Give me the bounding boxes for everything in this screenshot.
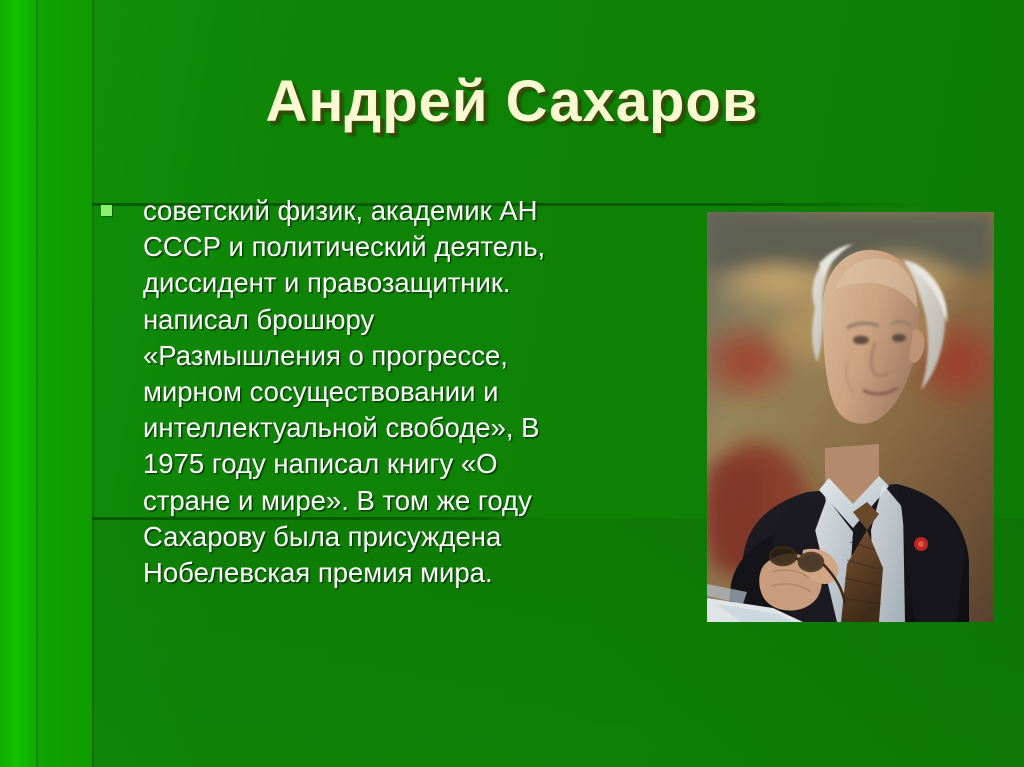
bullet-item-text: советский физик, академик АН СССР и поли…	[143, 193, 571, 591]
bullet-list: советский физик, академик АН СССР и поли…	[101, 193, 571, 591]
square-bullet-icon	[101, 205, 112, 216]
presentation-slide: Андрей Сахаров советский физик, академик…	[0, 0, 1024, 767]
portrait-photo	[707, 212, 994, 622]
slide-title: Андрей Сахаров	[0, 68, 1024, 135]
